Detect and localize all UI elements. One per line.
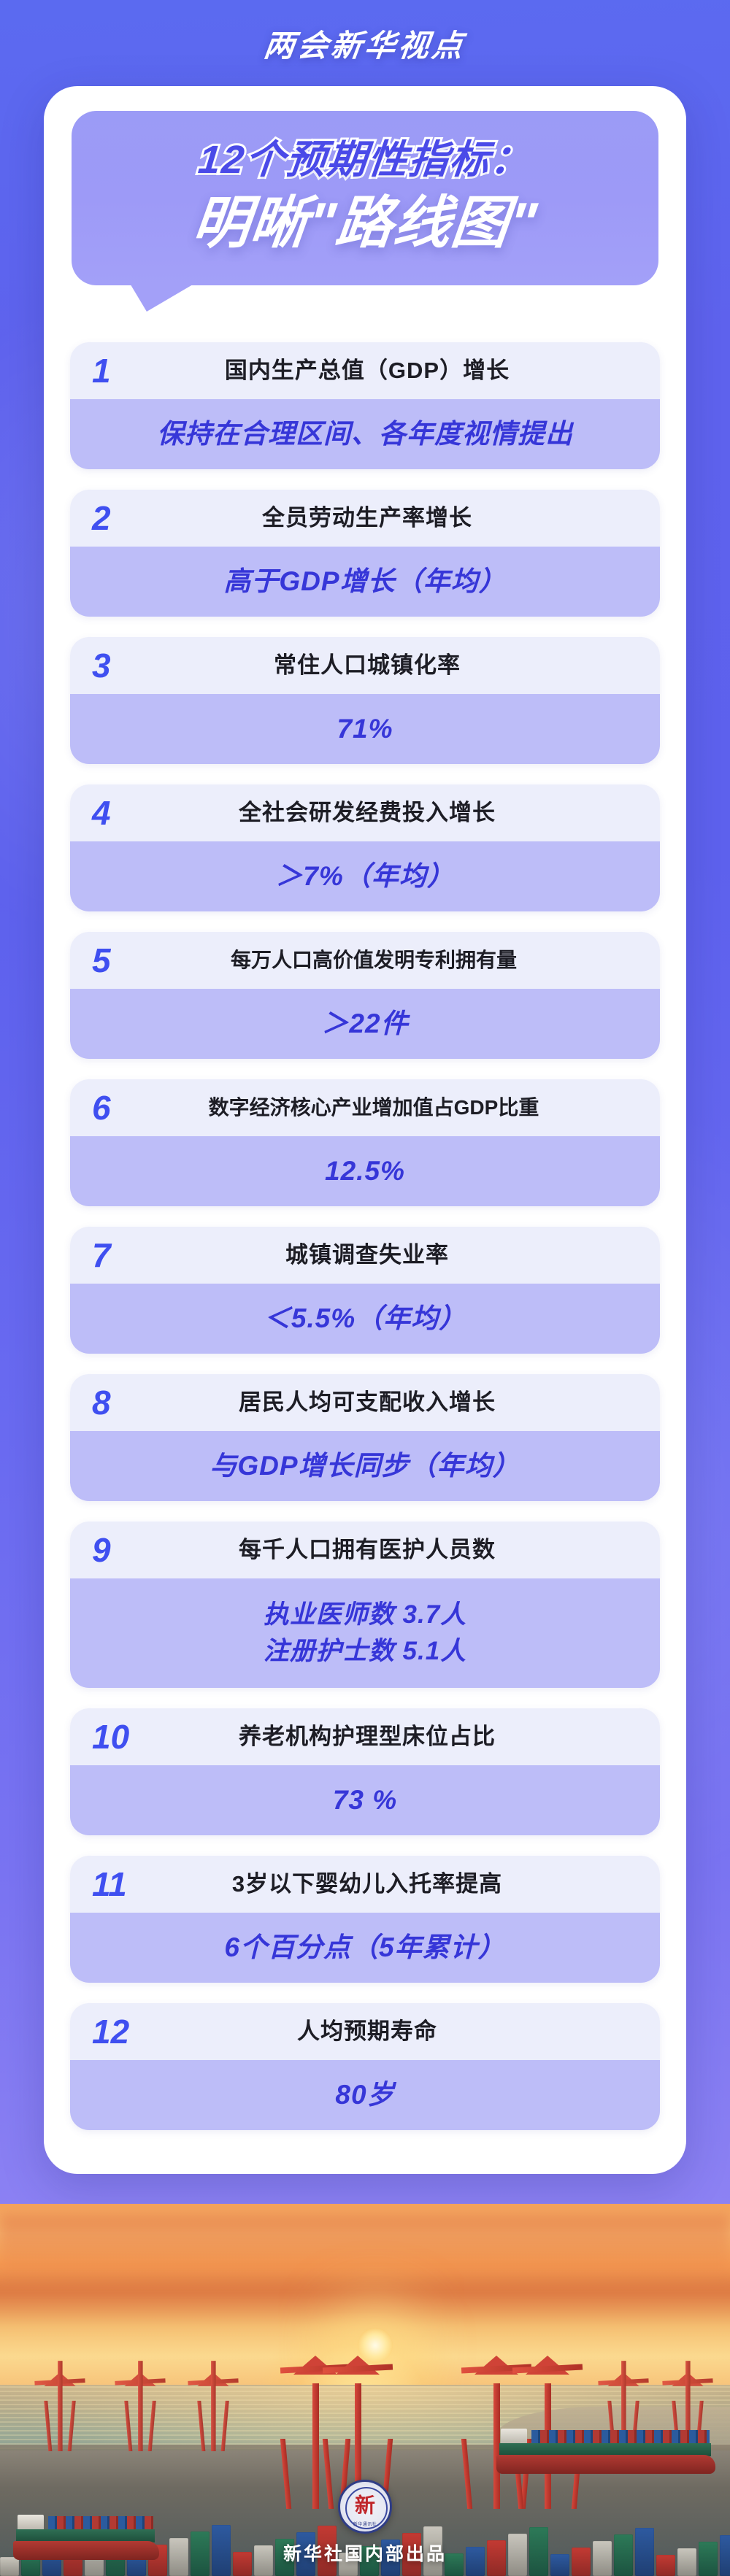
title-bubble: 12个预期性指标： 明晰"路线图" (72, 111, 658, 285)
indicator-item: 4全社会研发经费投入增长＞7%（年均） (70, 784, 660, 911)
indicator-value: ＜5.5%（年均） (264, 1300, 466, 1337)
indicator-value: 6个百分点（5年累计） (224, 1929, 505, 1966)
cloud-band-upper (0, 2214, 730, 2284)
masthead-title: 两会新华视点 (261, 21, 469, 66)
indicator-head: 12人均预期寿命 (70, 2003, 660, 2060)
indicator-item: 7城镇调查失业率＜5.5%（年均） (70, 1227, 660, 1354)
indicator-label: 全员劳动生产率增长 (147, 504, 644, 533)
indicator-value: 高于GDP增长（年均） (223, 563, 506, 600)
indicator-label: 每千人口拥有医护人员数 (147, 1535, 644, 1565)
indicator-value-panel: 保持在合理区间、各年度视情提出 (70, 399, 660, 469)
indicator-value-panel: 71% (70, 694, 660, 764)
indicator-value: 71% (337, 711, 393, 747)
indicator-item: 3常住人口城镇化率71% (70, 637, 660, 764)
indicator-item: 2全员劳动生产率增长高于GDP增长（年均） (70, 490, 660, 617)
indicator-item: 8居民人均可支配收入增长与GDP增长同步（年均） (70, 1374, 660, 1501)
indicator-item: 9每千人口拥有医护人员数执业医师数 3.7人 注册护士数 5.1人 (70, 1522, 660, 1688)
indicator-item: 12人均预期寿命80岁 (70, 2003, 660, 2130)
indicator-value-panel: ＞7%（年均） (70, 841, 660, 911)
indicator-item: 5每万人口高价值发明专利拥有量＞22件 (70, 932, 660, 1059)
indicator-label: 居民人均可支配收入增长 (147, 1388, 644, 1417)
indicator-value-panel: 与GDP增长同步（年均） (70, 1431, 660, 1501)
indicator-label: 城镇调查失业率 (147, 1241, 644, 1270)
indicator-label: 常住人口城镇化率 (147, 651, 644, 680)
indicator-label: 国内生产总值（GDP）增长 (147, 356, 644, 385)
footer-credit: 新华社国内部出品 (0, 2540, 730, 2566)
indicator-head: 2全员劳动生产率增长 (70, 490, 660, 547)
indicator-label: 3岁以下婴幼儿入托率提高 (147, 1870, 644, 1899)
indicator-number: 1 (86, 354, 147, 387)
seal-subtext: 新华通讯社 (340, 2521, 390, 2527)
indicator-value-panel: 6个百分点（5年累计） (70, 1913, 660, 1983)
indicator-item: 1国内生产总值（GDP）增长保持在合理区间、各年度视情提出 (70, 342, 660, 469)
indicator-number: 9 (86, 1533, 147, 1567)
indicator-item: 10养老机构护理型床位占比73 % (70, 1708, 660, 1835)
indicator-value: 12.5% (325, 1153, 405, 1189)
indicator-number: 2 (86, 501, 147, 535)
gantry-crane (191, 2372, 235, 2451)
indicator-value: ＞22件 (321, 1006, 408, 1042)
indicator-value: 73 % (333, 1782, 397, 1819)
indicator-number: 8 (86, 1386, 147, 1419)
title-line-1: 12个预期性指标： (83, 136, 646, 185)
indicator-head: 1国内生产总值（GDP）增长 (70, 342, 660, 399)
indicator-value: 与GDP增长同步（年均） (210, 1448, 520, 1484)
xinhua-seal-icon: 新 新华通讯社 (338, 2480, 392, 2534)
poster-root: 两会新华视点 12个预期性指标： 明晰"路线图" 1国内生产总值（GDP）增长保… (0, 0, 730, 2576)
indicator-number: 7 (86, 1238, 147, 1272)
indicator-value-panel: ＜5.5%（年均） (70, 1284, 660, 1354)
gantry-crane (118, 2372, 162, 2451)
indicator-label: 每万人口高价值发明专利拥有量 (147, 947, 644, 973)
indicator-value: ＞7%（年均） (275, 858, 454, 895)
indicator-number: 6 (86, 1091, 147, 1125)
indicator-item: 113岁以下婴幼儿入托率提高6个百分点（5年累计） (70, 1856, 660, 1983)
indicator-head: 5每万人口高价值发明专利拥有量 (70, 932, 660, 989)
title-line-2: 明晰"路线图" (82, 189, 648, 256)
content-sheet: 12个预期性指标： 明晰"路线图" 1国内生产总值（GDP）增长保持在合理区间、… (44, 86, 686, 2174)
indicator-label: 全社会研发经费投入增长 (147, 798, 644, 828)
indicator-value-panel: ＞22件 (70, 989, 660, 1059)
indicator-item: 6数字经济核心产业增加值占GDP比重12.5% (70, 1079, 660, 1206)
footer-branding: 新 新华通讯社 新华社国内部出品 (0, 2480, 730, 2566)
indicator-head: 8居民人均可支配收入增长 (70, 1374, 660, 1431)
indicator-value-panel: 73 % (70, 1765, 660, 1835)
indicator-head: 9每千人口拥有医护人员数 (70, 1522, 660, 1578)
indicator-value: 执业医师数 3.7人 注册护士数 5.1人 (264, 1597, 466, 1669)
indicator-list: 1国内生产总值（GDP）增长保持在合理区间、各年度视情提出2全员劳动生产率增长高… (70, 342, 660, 2130)
indicator-number: 4 (86, 796, 147, 830)
masthead: 两会新华视点 (0, 0, 730, 86)
indicator-head: 113岁以下婴幼儿入托率提高 (70, 1856, 660, 1913)
indicator-value: 80岁 (335, 2077, 394, 2113)
indicator-value-panel: 高于GDP增长（年均） (70, 547, 660, 617)
indicator-number: 12 (86, 2015, 147, 2048)
indicator-number: 11 (86, 1867, 147, 1901)
indicator-head: 4全社会研发经费投入增长 (70, 784, 660, 841)
gantry-crane (38, 2372, 82, 2451)
indicator-value-panel: 12.5% (70, 1136, 660, 1206)
container-ship (496, 2436, 715, 2474)
indicator-number: 10 (86, 1720, 147, 1754)
indicator-label: 养老机构护理型床位占比 (147, 1722, 644, 1751)
indicator-label: 数字经济核心产业增加值占GDP比重 (147, 1095, 644, 1121)
indicator-head: 10养老机构护理型床位占比 (70, 1708, 660, 1765)
indicator-value-panel: 执业医师数 3.7人 注册护士数 5.1人 (70, 1578, 660, 1688)
indicator-head: 3常住人口城镇化率 (70, 637, 660, 694)
indicator-number: 5 (86, 944, 147, 977)
indicator-value-panel: 80岁 (70, 2060, 660, 2130)
harbour-sunset-photo: 新 新华通讯社 新华社国内部出品 (0, 2204, 730, 2576)
indicator-head: 7城镇调查失业率 (70, 1227, 660, 1284)
indicator-label: 人均预期寿命 (147, 2017, 644, 2046)
indicator-head: 6数字经济核心产业增加值占GDP比重 (70, 1079, 660, 1136)
indicator-value: 保持在合理区间、各年度视情提出 (157, 416, 573, 452)
indicator-number: 3 (86, 649, 147, 682)
seal-mark: 新 (355, 2495, 375, 2515)
